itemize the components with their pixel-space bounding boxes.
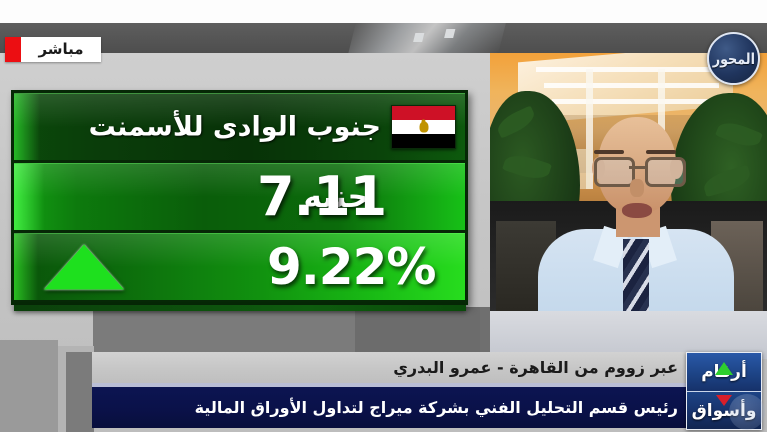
ticker-company-name: جنوب الوادى للأسمنت [89, 112, 381, 143]
eyeglass-lens-left [594, 157, 635, 187]
lower-third-bottom-bar: رئيس قسم التحليل الفني بشركة ميراج لتداو… [92, 387, 692, 428]
guest-eyebrow-left [594, 150, 624, 154]
ticker-change-row: 9.22% [14, 233, 465, 300]
studio-panel-block [66, 352, 94, 432]
flag-band-white [392, 120, 455, 134]
studio-skyline-graphic [348, 23, 506, 54]
corner-watermark-icon [729, 394, 765, 430]
eyeglass-lens-right [645, 157, 686, 187]
live-red-dot-icon [5, 37, 21, 62]
lower-third: عبر زووم من القاهرة - عمرو البدري رئيس ق… [92, 352, 692, 428]
guest-video-feed [490, 53, 767, 359]
panel-sheen [14, 164, 465, 197]
egypt-flag-icon [391, 105, 456, 149]
stock-ticker-panel: جنوب الوادى للأسمنت جنيه 7.11 9.22% [11, 90, 468, 305]
flag-band-red [392, 106, 455, 120]
lower-third-top-bar: عبر زووم من القاهرة - عمرو البدري [92, 352, 692, 383]
flag-band-black [392, 134, 455, 148]
live-badge: مباشر [5, 37, 101, 62]
eyeglass-bridge [629, 166, 645, 169]
broadcast-screen: مباشر [0, 0, 767, 432]
lower-third-line-1: عبر زووم من القاهرة - عمرو البدري [393, 358, 678, 377]
ticker-company-row: جنوب الوادى للأسمنت [14, 93, 465, 160]
guest-mouth [622, 203, 652, 218]
program-logo-top-row: أرقام [687, 353, 761, 391]
live-badge-label: مباشر [21, 37, 101, 62]
triangle-up-icon [715, 362, 733, 375]
letterbox-top-bar [0, 0, 767, 23]
ticker-change-percent: 9.22% [267, 242, 435, 292]
ticker-price-value: 7.11 [257, 170, 386, 224]
channel-logo-bug: المحور [707, 32, 760, 85]
guest-eyeglasses [594, 157, 680, 181]
guest-eyebrow-right [646, 150, 676, 154]
studio-panel-block [0, 340, 58, 432]
ticker-price-row: جنيه 7.11 [14, 163, 465, 230]
channel-logo-text: المحور [712, 50, 754, 68]
guest-nose [630, 179, 644, 197]
ticker-panel-base [14, 305, 466, 311]
triangle-up-icon [44, 245, 124, 290]
flag-eagle-emblem [419, 121, 428, 132]
lower-third-line-2: رئيس قسم التحليل الفني بشركة ميراج لتداو… [195, 398, 678, 417]
